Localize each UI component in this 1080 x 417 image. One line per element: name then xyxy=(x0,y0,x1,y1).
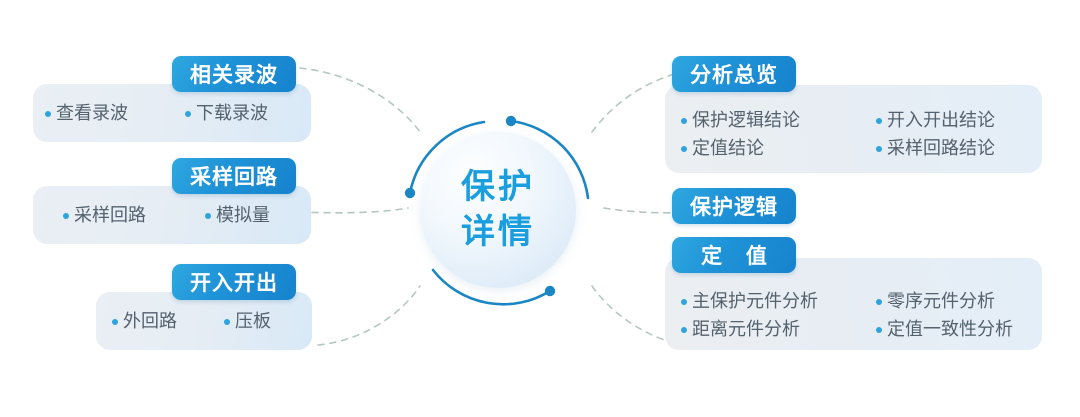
item-label: 主保护元件分析 xyxy=(692,292,818,311)
bullet-icon xyxy=(45,111,51,117)
items-right-3: 主保护元件分析 零序元件分析 距离元件分析 定值一致性分析 xyxy=(681,287,1037,343)
bullet-icon xyxy=(876,299,882,305)
bullet-icon xyxy=(876,327,882,333)
bullet-icon xyxy=(112,319,118,325)
item-label: 查看录波 xyxy=(56,104,128,123)
badge-right-1[interactable]: 分析总览 xyxy=(672,56,796,92)
list-item[interactable]: 保护逻辑结论 xyxy=(681,106,876,134)
center-label-line-2: 详情 xyxy=(461,210,535,255)
item-label: 保护逻辑结论 xyxy=(692,111,800,130)
list-item[interactable]: 定值一致性分析 xyxy=(876,315,1036,343)
bullet-icon xyxy=(205,213,211,219)
list-item[interactable]: 下载录波 xyxy=(185,100,305,126)
item-label: 零序元件分析 xyxy=(887,292,995,311)
items-left-1: 查看录波 下载录波 xyxy=(45,100,305,126)
center-node[interactable]: 保护 详情 xyxy=(398,110,598,310)
items-right-1: 保护逻辑结论 开入开出结论 定值结论 采样回路结论 xyxy=(681,106,1037,162)
list-item[interactable]: 采样回路 xyxy=(63,202,205,228)
bullet-icon xyxy=(681,146,687,152)
item-label: 模拟量 xyxy=(216,206,270,225)
item-label: 定值一致性分析 xyxy=(887,320,1013,339)
item-label: 距离元件分析 xyxy=(692,320,800,339)
item-label: 采样回路结论 xyxy=(887,139,995,158)
items-left-3: 外回路 压板 xyxy=(112,308,312,334)
item-label: 外回路 xyxy=(123,312,177,331)
badge-right-3[interactable]: 定 值 xyxy=(672,237,796,273)
list-item[interactable]: 定值结论 xyxy=(681,134,876,162)
center-label-line-1: 保护 xyxy=(461,165,535,210)
list-item[interactable]: 压板 xyxy=(224,308,312,334)
badge-left-1[interactable]: 相关录波 xyxy=(172,56,296,92)
list-item[interactable]: 外回路 xyxy=(112,308,224,334)
item-label: 开入开出结论 xyxy=(887,111,995,130)
bullet-icon xyxy=(876,146,882,152)
items-left-2: 采样回路 模拟量 xyxy=(63,202,309,228)
bullet-icon xyxy=(185,111,191,117)
badge-left-3[interactable]: 开入开出 xyxy=(172,264,296,300)
list-item[interactable]: 零序元件分析 xyxy=(876,287,1036,315)
list-item[interactable]: 模拟量 xyxy=(205,202,309,228)
bullet-icon xyxy=(876,118,882,124)
center-label: 保护 详情 xyxy=(398,110,598,310)
item-label: 定值结论 xyxy=(692,139,764,158)
bullet-icon xyxy=(681,327,687,333)
bullet-icon xyxy=(681,299,687,305)
item-label: 压板 xyxy=(235,312,271,331)
item-label: 采样回路 xyxy=(74,206,146,225)
list-item[interactable]: 主保护元件分析 xyxy=(681,287,876,315)
bullet-icon xyxy=(224,319,230,325)
list-item[interactable]: 查看录波 xyxy=(45,100,185,126)
connector-left-middle xyxy=(300,208,408,213)
bullet-icon xyxy=(681,118,687,124)
list-item[interactable]: 开入开出结论 xyxy=(876,106,1036,134)
list-item[interactable]: 距离元件分析 xyxy=(681,315,876,343)
list-item[interactable]: 采样回路结论 xyxy=(876,134,1036,162)
item-label: 下载录波 xyxy=(196,104,268,123)
badge-left-2[interactable]: 采样回路 xyxy=(172,158,296,194)
bullet-icon xyxy=(63,213,69,219)
diagram-canvas: 相关录波 查看录波 下载录波 采样回路 采样回路 模拟量 开入开出 外回路 压板 xyxy=(0,0,1080,417)
badge-right-2[interactable]: 保护逻辑 xyxy=(672,188,796,224)
